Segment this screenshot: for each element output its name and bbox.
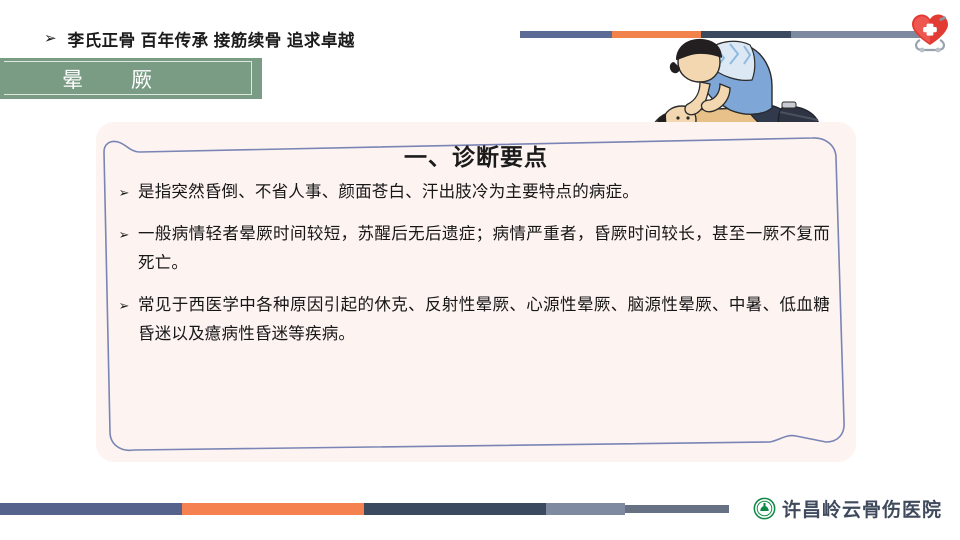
header-rule-segment-1 bbox=[520, 31, 612, 38]
footer-brand: 许昌岭云骨伤医院 bbox=[753, 495, 942, 522]
footer-rule-segment-3 bbox=[364, 503, 546, 515]
bullet-text: 一般病情轻者晕厥时间较短，苏醒后无后遗症；病情严重者，昏厥时间较长，甚至一厥不复… bbox=[138, 220, 830, 278]
footer-brand-connector-line bbox=[625, 505, 729, 513]
slogan-text: 李氏正骨 百年传承 接筋续骨 追求卓越 bbox=[68, 27, 355, 51]
bullet-text: 常见于西医学中各种原因引起的休克、反射性晕厥、心源性晕厥、脑源性晕厥、中暑、低血… bbox=[138, 291, 830, 349]
slide-canvas: /* widths applied via class names below;… bbox=[0, 0, 960, 540]
bullet-arrow-icon: ➢ bbox=[110, 178, 138, 207]
bullet-arrow-icon: ➢ bbox=[110, 291, 138, 320]
list-item: ➢ 是指突然昏倒、不省人事、颜面苍白、汗出肢冷为主要特点的病症。 bbox=[110, 178, 830, 207]
slogan-arrow-icon: ➢ bbox=[44, 31, 57, 46]
plate-right-tab bbox=[252, 58, 262, 99]
list-item: ➢ 一般病情轻者晕厥时间较短，苏醒后无后遗症；病情严重者，昏厥时间较长，甚至一厥… bbox=[110, 220, 830, 278]
footer-rule-segment-4 bbox=[546, 503, 625, 515]
heart-cross-stethoscope-icon bbox=[908, 10, 952, 54]
section-title-plate: 晕 厥 bbox=[0, 58, 262, 99]
footer-rule-segment-1 bbox=[0, 503, 182, 515]
footer-rule-segment-2 bbox=[182, 503, 364, 515]
footer-decorative-rule bbox=[0, 503, 625, 515]
bullet-arrow-icon: ➢ bbox=[110, 220, 138, 249]
section-title-label: 晕 厥 bbox=[62, 64, 154, 94]
card-title: 一、诊断要点 bbox=[96, 138, 856, 172]
bullet-list: ➢ 是指突然昏倒、不省人事、颜面苍白、汗出肢冷为主要特点的病症。 ➢ 一般病情轻… bbox=[110, 178, 830, 362]
list-item: ➢ 常见于西医学中各种原因引起的休克、反射性晕厥、心源性晕厥、脑源性晕厥、中暑、… bbox=[110, 291, 830, 349]
header-slogan: ➢ 李氏正骨 百年传承 接筋续骨 追求卓越 bbox=[44, 27, 355, 51]
hospital-seal-logo bbox=[753, 497, 776, 520]
footer-brand-name: 许昌岭云骨伤医院 bbox=[782, 495, 942, 522]
content-card: 一、诊断要点 ➢ 是指突然昏倒、不省人事、颜面苍白、汗出肢冷为主要特点的病症。 … bbox=[96, 122, 856, 462]
bullet-text: 是指突然昏倒、不省人事、颜面苍白、汗出肢冷为主要特点的病症。 bbox=[138, 178, 830, 207]
